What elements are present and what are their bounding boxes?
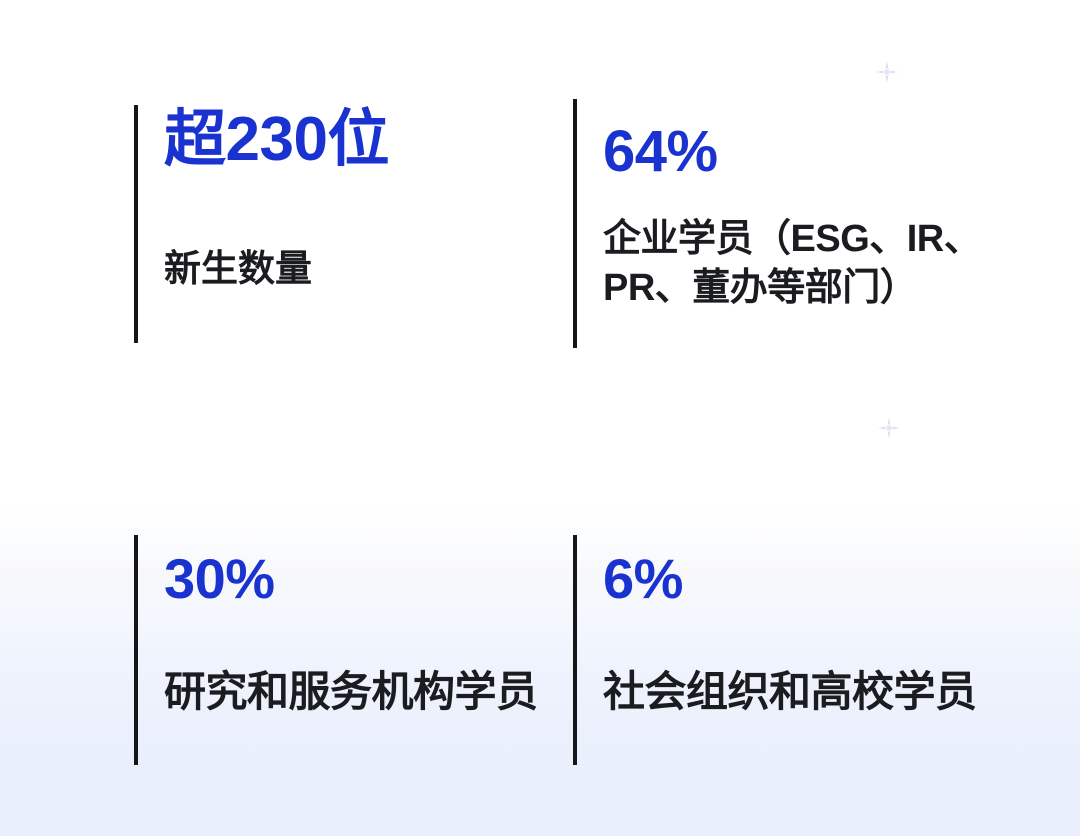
stat-value-corporate: 64% <box>603 123 1003 181</box>
stat-value-social: 6% <box>603 551 1003 607</box>
stat-label-corporate: 企业学员（ESG、IR、PR、董办等部门） <box>603 215 1003 312</box>
stat-value-research: 30% <box>164 551 554 607</box>
stat-block-social: 6% 社会组织和高校学员 <box>573 535 1003 765</box>
sparkle-icon <box>874 59 900 85</box>
sparkle-icon <box>876 415 902 441</box>
stat-block-newcomers: 超230位 新生数量 <box>134 105 534 343</box>
stat-accent-rule <box>134 535 138 765</box>
stat-label-newcomers: 新生数量 <box>164 245 534 292</box>
stat-accent-rule <box>573 535 577 765</box>
stat-label-social: 社会组织和高校学员 <box>603 665 1003 719</box>
stat-block-corporate: 64% 企业学员（ESG、IR、PR、董办等部门） <box>573 99 1003 348</box>
infographic-canvas: 超230位 新生数量 64% 企业学员（ESG、IR、PR、董办等部门） 30%… <box>0 0 1080 836</box>
stat-accent-rule <box>573 99 577 348</box>
stat-block-research: 30% 研究和服务机构学员 <box>134 535 554 765</box>
stat-value-newcomers: 超230位 <box>164 109 534 171</box>
stat-accent-rule <box>134 105 138 343</box>
stat-label-research: 研究和服务机构学员 <box>164 665 554 719</box>
